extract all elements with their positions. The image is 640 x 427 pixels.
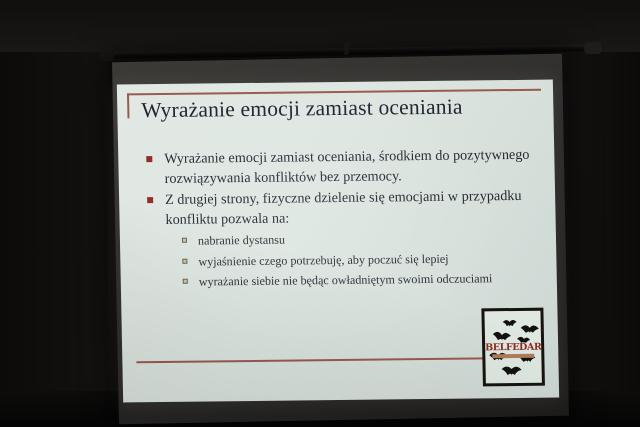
screen-roller-cap-right <box>584 42 602 54</box>
sub-bullet-item: wyrażanie siebie nie będąc owładniętym s… <box>183 270 545 292</box>
belfedar-logo-inner: BELFEDAR <box>484 311 541 384</box>
slide-title: Wyrażanie emocji zamiast oceniania <box>141 92 542 125</box>
photo-screenshot: Wyrażanie emocji zamiast oceniania Wyraż… <box>0 0 640 427</box>
screen-roller-cap-left <box>100 50 114 61</box>
sub-bullet-text: nabranie dystansu <box>198 233 285 248</box>
hollow-square-bullet-icon <box>182 238 187 243</box>
wall-panel-right <box>562 0 640 427</box>
slide-body: Wyrażanie emocji zamiast oceniania, środ… <box>142 146 545 295</box>
bullet-item: Wyrażanie emocji zamiast oceniania, środ… <box>142 146 543 190</box>
hollow-square-bullet-icon <box>183 279 188 284</box>
sub-bullet-item: wyjaśnienie czego potrzebuję, aby poczuć… <box>182 249 544 271</box>
wall-panel-left <box>0 0 108 427</box>
title-rule-vertical <box>127 93 129 118</box>
square-bullet-icon <box>147 197 153 203</box>
sub-bullet-item: nabranie dystansu <box>182 229 544 251</box>
projected-slide: Wyrażanie emocji zamiast oceniania Wyraż… <box>117 80 559 403</box>
belfedar-logo-underbar <box>492 354 534 358</box>
belfedar-logo-text: BELFEDAR <box>485 342 541 354</box>
bullet-text: Z drugiej strony, fizyczne dzielenie się… <box>165 188 522 228</box>
bullet-text: Wyrażanie emocji zamiast oceniania, środ… <box>164 147 529 187</box>
sub-bullet-text: wyjaśnienie czego potrzebuję, aby poczuć… <box>198 251 448 268</box>
footer-rule <box>136 357 540 363</box>
belfedar-logo: BELFEDAR <box>481 308 545 387</box>
sub-bullet-list: nabranie dystansu wyjaśnienie czego potr… <box>144 229 545 292</box>
hollow-square-bullet-icon <box>182 258 187 263</box>
square-bullet-icon <box>146 156 152 162</box>
slide-canvas: Wyrażanie emocji zamiast oceniania Wyraż… <box>117 80 559 403</box>
bullet-item: Z drugiej strony, fizyczne dzielenie się… <box>143 187 544 231</box>
screen-hanging-hook <box>344 43 349 55</box>
sub-bullet-text: wyrażanie siebie nie będąc owładniętym s… <box>199 271 493 288</box>
